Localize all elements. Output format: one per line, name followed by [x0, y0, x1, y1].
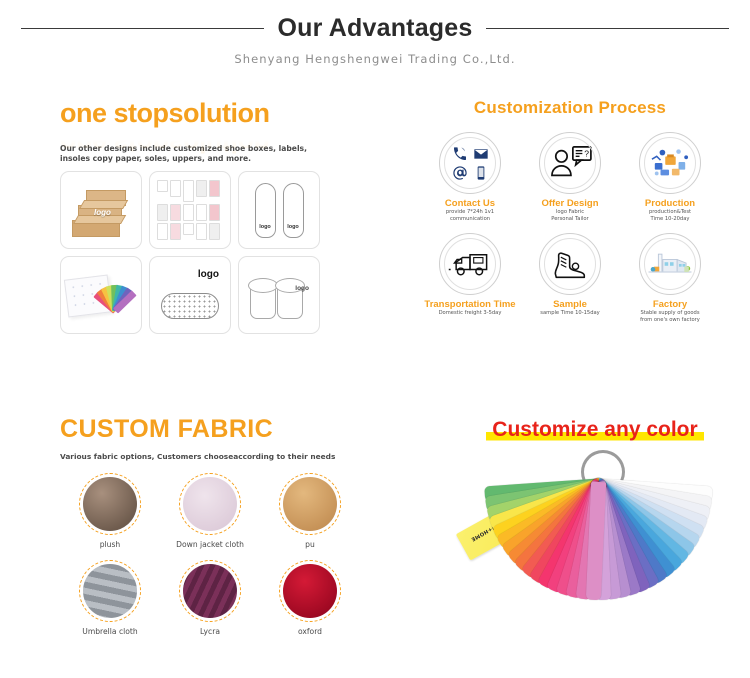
fabric-swatch-color [183, 477, 237, 531]
process-step-caption-line: from one's own factory [620, 317, 720, 324]
fabric-swatch-ring [79, 560, 141, 622]
header-title-row: Our Advantages [0, 0, 750, 43]
boots-illustration: logo [246, 269, 312, 321]
product-cell-insoles[interactable]: logo logo [238, 171, 320, 249]
fabric-label: Umbrella cloth [60, 627, 160, 636]
factory-icon [646, 247, 694, 281]
designer-icon: ? [547, 144, 593, 182]
process-step-circle [639, 233, 701, 295]
fabric-swatch-ring [279, 560, 341, 622]
customize-color-panel: Customize any color PANTONE FASHION+HOME… [450, 418, 740, 628]
product-cell-copy-paper[interactable] [60, 256, 142, 334]
one-stop-product-grid: logo logo logo logo [60, 171, 360, 334]
fabric-label: Down jacket cloth [160, 540, 260, 549]
truck-icon [446, 249, 494, 279]
process-step-circle: ? [539, 132, 601, 194]
fabric-item-oxford[interactable]: oxford [260, 560, 360, 636]
fabric-title: CUSTOM FABRIC [60, 415, 380, 444]
process-step-caption-line: production&Test [620, 209, 720, 216]
process-step-caption-line: sample Time 10-15day [520, 310, 620, 317]
insole-logo-right: logo [284, 224, 303, 230]
process-step-production[interactable]: Productionproduction&TestTime 10-20day [620, 132, 720, 223]
process-steps-grid: Contact Usprovide 7*24h 1v1communication… [420, 132, 720, 324]
fabric-swatch-ring [179, 560, 241, 622]
process-step-caption-line: provide 7*24h 1v1 [420, 209, 520, 216]
fabric-swatch-color [83, 564, 137, 618]
fabric-swatch-ring [179, 473, 241, 535]
insole-right: logo [283, 183, 304, 238]
copy-paper-illustration [66, 269, 136, 321]
process-step-name: Production [620, 198, 720, 209]
product-cell-labels[interactable] [149, 171, 231, 249]
box-logo-text: logo [94, 208, 111, 217]
production-icon [647, 144, 693, 182]
process-step-circle [439, 233, 501, 295]
process-step-circle [539, 233, 601, 295]
fabric-item-lycra[interactable]: Lycra [160, 560, 260, 636]
process-step-contact-us[interactable]: Contact Usprovide 7*24h 1v1communication [420, 132, 520, 223]
color-title: Customize any color [486, 418, 703, 442]
pantone-fan-illustration: PANTONE FASHION+HOME nylon brights [450, 448, 740, 628]
process-step-name: Sample [520, 299, 620, 310]
fabric-item-pu[interactable]: pu [260, 473, 360, 549]
process-step-caption-line: Domestic freight 3-5day [420, 310, 520, 317]
insole-logo-left: logo [256, 224, 275, 230]
process-step-name: Factory [620, 299, 720, 310]
sole-logo-text: logo [198, 269, 219, 280]
fabric-label: pu [260, 540, 360, 549]
one-stop-description: Our other designs include customized sho… [60, 144, 310, 164]
phone-icon [452, 146, 468, 162]
process-step-name: Transportation Time [420, 299, 520, 310]
company-name: Shenyang Hengshengwei Trading Co.,Ltd. [0, 52, 750, 66]
page-title: Our Advantages [278, 14, 473, 43]
product-cell-uppers[interactable]: logo [238, 256, 320, 334]
fabric-swatch-color [83, 477, 137, 531]
contact-icons-group [452, 146, 489, 181]
fabric-item-umbrella-cloth[interactable]: Umbrella cloth [60, 560, 160, 636]
fabric-swatch-color [283, 564, 337, 618]
process-step-name: Contact Us [420, 198, 520, 209]
process-step-factory[interactable]: FactoryStable supply of goodsfrom one's … [620, 233, 720, 324]
product-cell-soles[interactable]: logo [149, 256, 231, 334]
fabric-swatch-ring [279, 473, 341, 535]
fabric-item-plush[interactable]: plush [60, 473, 160, 549]
sole-illustration: logo [155, 267, 225, 323]
custom-fabric-panel: CUSTOM FABRIC Various fabric options, Cu… [60, 415, 380, 636]
process-step-caption-line: communication [420, 216, 520, 223]
fabric-swatch-color [283, 477, 337, 531]
envelope-icon [473, 146, 489, 162]
fabric-item-down-jacket-cloth[interactable]: Down jacket cloth [160, 473, 260, 549]
boot-logo-text: logo [295, 285, 309, 292]
insole-left: logo [255, 183, 276, 238]
fabric-description: Various fabric options, Customers choose… [60, 452, 380, 461]
customization-process-panel: Customization Process Contact Usprovide … [420, 98, 720, 324]
process-step-caption-line: Personal Tailor [520, 216, 620, 223]
fabric-label: Lycra [160, 627, 260, 636]
color-title-wrap: Customize any color [450, 418, 740, 442]
one-stop-solution-panel: one stopsolution Our other designs inclu… [60, 98, 360, 334]
header-divider-right [486, 28, 729, 29]
header-divider-left [21, 28, 264, 29]
hangtags-illustration [157, 180, 224, 240]
process-step-sample[interactable]: Samplesample Time 10-15day [520, 233, 620, 324]
boot-icon [546, 248, 594, 281]
product-cell-shoe-boxes[interactable]: logo [60, 171, 142, 249]
process-step-circle [439, 132, 501, 194]
process-step-transportation-time[interactable]: Transportation TimeDomestic freight 3-5d… [420, 233, 520, 324]
fabric-swatch-ring [79, 473, 141, 535]
process-step-caption-line: logo Fabric [520, 209, 620, 216]
fabric-label: plush [60, 540, 160, 549]
process-step-offer-design[interactable]: ? Offer Designlogo FabricPersonal Tailor [520, 132, 620, 223]
process-step-caption-line: Time 10-20day [620, 216, 720, 223]
insoles-illustration: logo logo [255, 183, 304, 238]
mobile-phone-icon [473, 165, 489, 181]
process-title: Customization Process [420, 98, 720, 118]
process-step-circle [639, 132, 701, 194]
fabric-swatch-grid: plush Down jacket cloth pu Umbrella clot… [60, 473, 380, 636]
page-header: Our Advantages Shenyang Hengshengwei Tra… [0, 0, 750, 88]
at-sign-icon [452, 165, 468, 181]
shoe-boxes-illustration: logo [70, 186, 132, 234]
svg-text:?: ? [584, 148, 589, 158]
fabric-swatch-color [183, 564, 237, 618]
fabric-label: oxford [260, 627, 360, 636]
process-step-caption-line: Stable supply of goods [620, 310, 720, 317]
one-stop-title: one stopsolution [60, 98, 360, 128]
process-step-name: Offer Design [520, 198, 620, 209]
